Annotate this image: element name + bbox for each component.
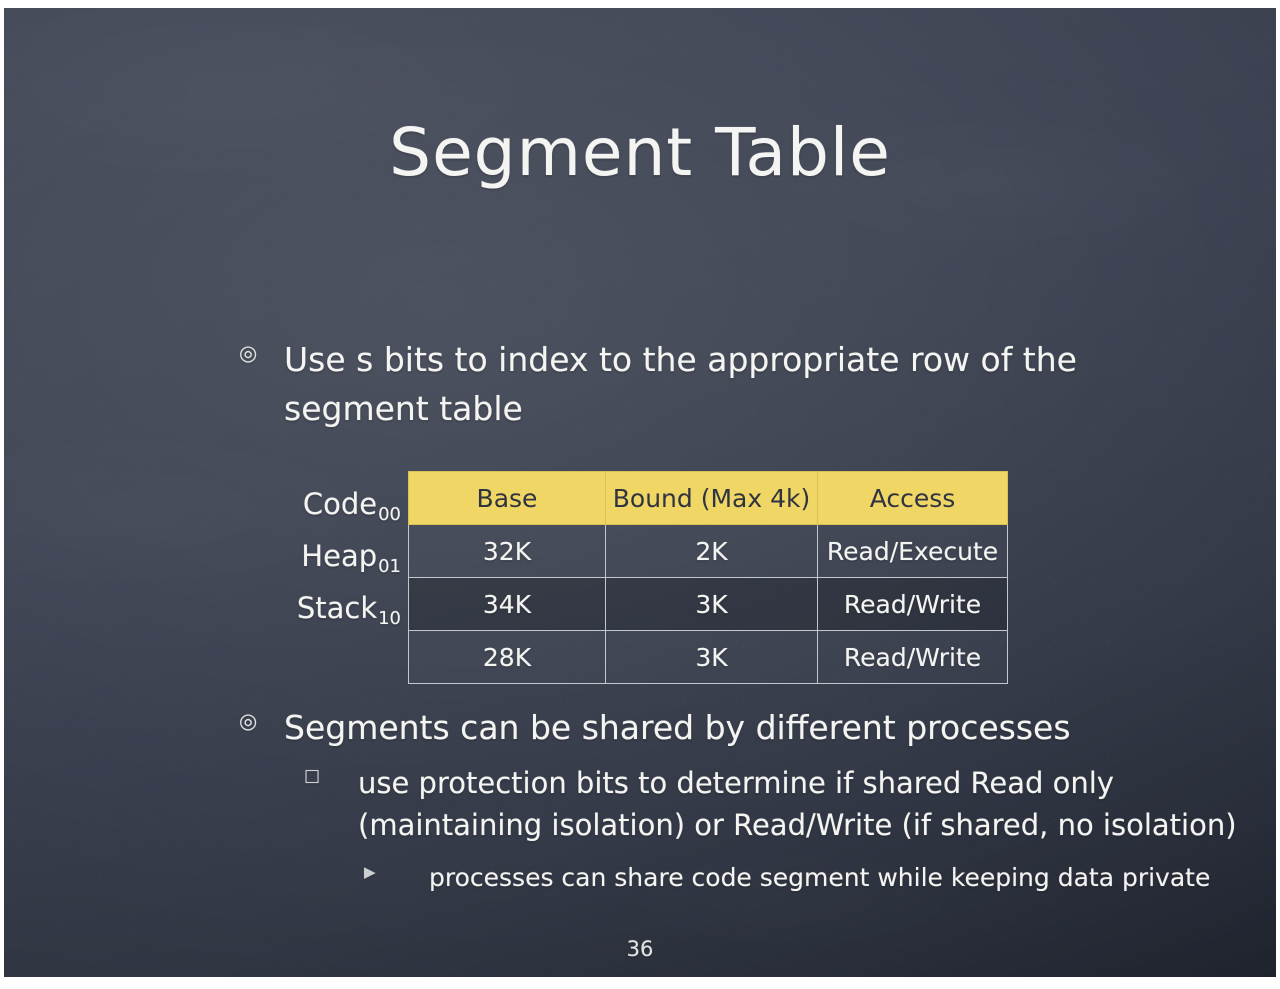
bullet-item-2-label: Segments can be shared by different proc… [284,704,1192,753]
cell-access-code: Read/Execute [818,525,1008,578]
cell-base-code: 32K [409,525,606,578]
segment-row-label-heap: Heap01 [160,539,400,573]
segment-table-grid: Base Bound (Max 4k) Access 32K 2K Read/E… [408,471,1008,684]
bullet-item-2: ◎ Segments can be shared by different pr… [232,704,1192,753]
bullet-item-4-label: processes can share code segment while k… [429,860,1264,895]
table-header-row: Base Bound (Max 4k) Access [409,472,1008,525]
column-header-base: Base [409,472,606,525]
bullet-item-3: □ use protection bits to determine if sh… [304,763,1249,847]
page-number: 36 [4,937,1276,961]
square-bullet-icon: □ [304,763,358,791]
column-header-bound: Bound (Max 4k) [606,472,818,525]
segment-table-body: 32K 2K Read/Execute 34K 3K Read/Write 28… [409,525,1008,684]
cell-bound-heap: 3K [606,578,818,631]
slide: Segment Table ◎ Use s bits to index to t… [0,0,1280,989]
segment-row-label-code-name: Code [303,487,377,521]
cell-access-stack: Read/Write [818,631,1008,684]
cell-base-heap: 34K [409,578,606,631]
segment-row-label-code-subscript: 00 [378,504,401,525]
spiral-bullet-icon: ◎ [232,338,284,369]
slide-content: Segment Table ◎ Use s bits to index to t… [4,8,1276,977]
table-row: 28K 3K Read/Write [409,631,1008,684]
segment-row-label-heap-name: Heap [301,539,377,573]
spiral-bullet-icon: ◎ [232,706,284,737]
segment-row-label-stack: Stack10 [160,591,400,625]
table-row: 32K 2K Read/Execute [409,525,1008,578]
bullet-item-4: ▶ processes can share code segment while… [364,860,1264,895]
triangle-bullet-icon: ▶ [364,860,429,884]
page-title: Segment Table [4,120,1276,186]
table-row: 34K 3K Read/Write [409,578,1008,631]
cell-bound-stack: 3K [606,631,818,684]
segment-table-header: Base Bound (Max 4k) Access [409,472,1008,525]
column-header-access: Access [818,472,1008,525]
segment-row-label-stack-subscript: 10 [378,608,401,629]
cell-bound-code: 2K [606,525,818,578]
segment-table: Code00 Heap01 Stack10 Base Bound (Max 4k… [408,471,1004,678]
bullet-item-3-label: use protection bits to determine if shar… [358,763,1249,847]
segment-row-label-heap-subscript: 01 [378,556,401,577]
bullet-item-1: ◎ Use s bits to index to the appropriate… [232,336,1162,434]
cell-access-heap: Read/Write [818,578,1008,631]
segment-row-label-code: Code00 [160,487,400,521]
cell-base-stack: 28K [409,631,606,684]
segment-row-label-stack-name: Stack [297,591,377,625]
bullet-item-1-label: Use s bits to index to the appropriate r… [284,336,1162,434]
